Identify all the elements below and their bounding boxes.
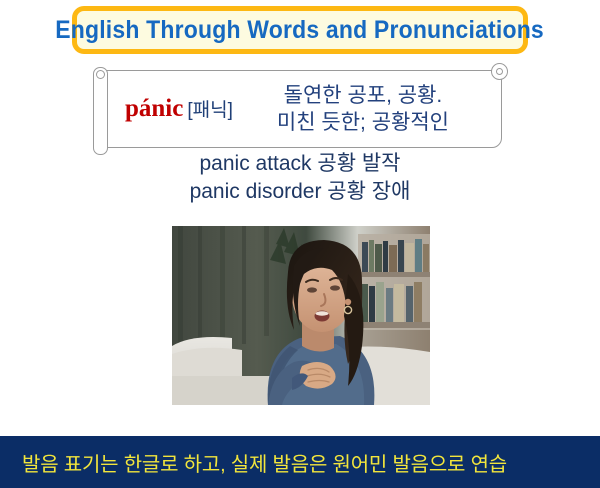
title-banner-container: English Through Words and Pronunciations [0,6,600,54]
footer-bar: 발음 표기는 한글로 하고, 실제 발음은 원어민 발음으로 연습 [0,436,600,488]
title-banner: English Through Words and Pronunciations [72,6,528,54]
word-card-container: pánic [패닉] 돌연한 공포, 공황. 미친 듯한; 공황적인 [0,70,600,148]
definition-line-1: 돌연한 공포, 공황. [239,82,487,109]
phrase-line-2: panic disorder 공황 장애 [0,178,600,206]
pronunciation-text: [패닉] [187,95,233,122]
scroll-curl-right-icon [491,63,508,80]
definition-line-2: 미친 듯한; 공황적인 [239,109,487,136]
lesson-title: English Through Words and Pronunciations [56,16,545,45]
phrase-line-1: panic attack 공황 발작 [0,150,600,178]
panic-attack-photo-graphic [172,226,430,405]
scroll-roll-left-icon [93,67,108,155]
definitions-block: 돌연한 공포, 공황. 미친 듯한; 공황적인 [233,82,501,137]
headword-block: pánic [패닉] [99,95,233,123]
headword-text: pánic [125,95,183,123]
example-phrases: panic attack 공황 발작 panic disorder 공황 장애 [0,150,600,206]
word-scroll-card: pánic [패닉] 돌연한 공포, 공황. 미친 듯한; 공황적인 [98,70,502,148]
footer-note-text: 발음 표기는 한글로 하고, 실제 발음은 원어민 발음으로 연습 [0,448,507,477]
illustration-photo [172,226,430,405]
